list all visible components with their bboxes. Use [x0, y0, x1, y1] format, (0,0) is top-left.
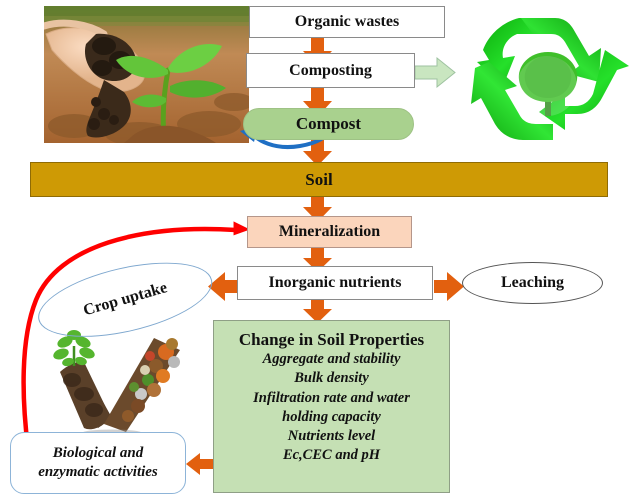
node-compost[interactable]: Compost	[243, 108, 414, 140]
node-leaching[interactable]: Leaching	[462, 262, 603, 304]
crop-uptake-label: Crop uptake	[81, 279, 169, 320]
node-inorganic-nutrients[interactable]: Inorganic nutrients	[237, 266, 433, 300]
soil-properties-item: holding capacity	[282, 408, 381, 427]
soil-properties-item: Aggregate and stability	[263, 350, 401, 369]
soil-properties-item: Bulk density	[294, 369, 369, 388]
node-soil[interactable]: Soil	[30, 162, 608, 197]
soil-properties-title: Change in Soil Properties	[239, 330, 424, 350]
arrow-composting-recycle	[415, 58, 455, 87]
biological-line: Biological and	[53, 444, 143, 464]
node-organic-wastes[interactable]: Organic wastes	[249, 6, 445, 38]
node-biological-activities[interactable]: Biological and enzymatic activities	[10, 432, 186, 494]
node-composting[interactable]: Composting	[246, 53, 415, 88]
node-soil-properties-box[interactable]: Change in Soil Properties Aggregate and …	[213, 320, 450, 493]
soil-properties-item: Infiltration rate and water	[253, 389, 410, 408]
soil-properties-item: Nutrients level	[288, 427, 375, 446]
node-mineralization[interactable]: Mineralization	[247, 216, 412, 248]
biological-line: enzymatic activities	[38, 463, 158, 483]
arrow-inorganic-leaching	[434, 272, 464, 301]
soil-properties-item: Ec,CEC and pH	[283, 446, 380, 465]
diagram-canvas: Organic wastes Composting Compost Soil M…	[0, 0, 640, 503]
